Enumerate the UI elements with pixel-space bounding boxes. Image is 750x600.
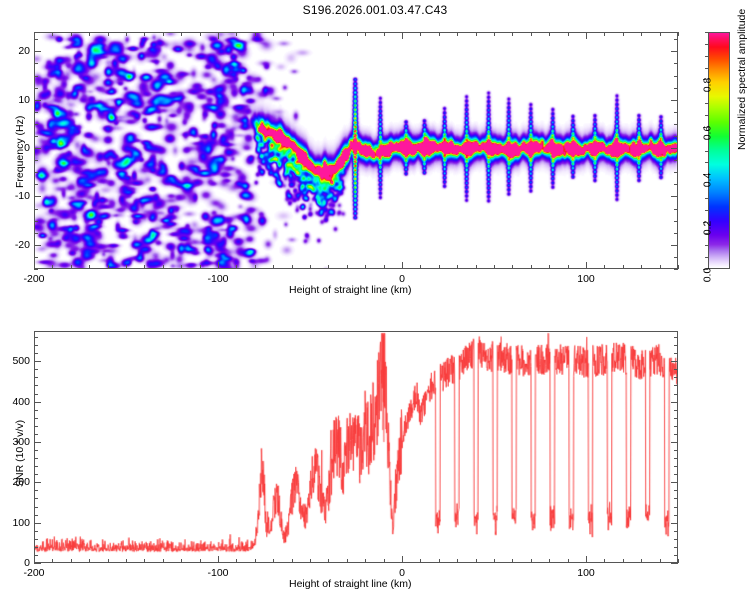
spectrogram-x-tick-top <box>328 32 329 36</box>
spectrogram-y-tick <box>34 269 38 270</box>
spectrogram-y-tick-right <box>674 124 678 125</box>
colorbar-minor-tick <box>705 91 708 92</box>
spectrogram-x-tick <box>255 265 256 269</box>
spectrogram-y-tick <box>34 184 38 185</box>
spectrogram-x-tick-label: -200 <box>23 273 44 285</box>
colorbar-minor-tick <box>705 186 708 187</box>
colorbar-minor-tick <box>705 162 708 163</box>
snr-y-tick-right <box>671 361 678 362</box>
colorbar-minor-tick <box>705 115 708 116</box>
snr-y-tick <box>34 523 41 524</box>
snr-x-tick <box>328 559 329 563</box>
snr-y-tick <box>34 507 38 508</box>
snr-y-tick <box>34 434 38 435</box>
spectrogram-y-tick <box>34 233 38 234</box>
snr-y-tick <box>34 458 38 459</box>
spectrogram-x-tick-top <box>586 32 587 39</box>
snr-x-tick-label: -100 <box>207 567 228 579</box>
snr-y-tick-right <box>674 410 678 411</box>
spectrogram-x-tick-top <box>641 32 642 36</box>
spectrogram-x-tick-top <box>604 32 605 36</box>
snr-y-tick-label: 0 <box>6 557 30 569</box>
spectrogram-x-tick <box>457 265 458 269</box>
spectrogram-x-tick <box>126 265 127 269</box>
spectrogram-x-tick-top <box>531 32 532 36</box>
snr-x-tick <box>52 559 53 563</box>
colorbar-minor-tick <box>705 198 708 199</box>
snr-y-tick-right <box>674 353 678 354</box>
snr-x-tick <box>531 559 532 563</box>
colorbar-minor-tick <box>705 151 708 152</box>
snr-panel <box>34 331 678 563</box>
spectrogram-x-tick <box>439 265 440 269</box>
snr-y-tick <box>34 482 41 483</box>
colorbar-minor-tick <box>705 32 708 33</box>
snr-y-tick <box>34 515 38 516</box>
spectrogram-y-tick-right <box>671 148 678 149</box>
spectrogram-x-tick-top <box>512 32 513 36</box>
spectrogram-x-tick-top <box>549 32 550 36</box>
spectrogram-x-tick <box>531 265 532 269</box>
spectrogram-x-tick-top <box>457 32 458 36</box>
spectrogram-y-tick-label: 10 <box>8 94 30 106</box>
colorbar-minor-tick <box>705 139 708 140</box>
snr-y-tick <box>34 337 38 338</box>
spectrogram-x-tick-top <box>71 32 72 36</box>
spectrogram-y-tick-right <box>671 51 678 52</box>
spectrogram-x-tick-label: 100 <box>577 273 595 285</box>
snr-y-tick <box>34 353 38 354</box>
spectrogram-x-tick-top <box>108 32 109 36</box>
snr-x-tick <box>604 559 605 563</box>
colorbar-minor-tick <box>705 56 708 57</box>
snr-y-tick-right <box>674 490 678 491</box>
spectrogram-x-tick <box>273 265 274 269</box>
snr-x-tick <box>163 559 164 563</box>
spectrogram-x-tick-top <box>678 32 679 36</box>
colorbar-minor-tick <box>705 210 708 211</box>
snr-y-tick <box>34 402 41 403</box>
spectrogram-x-tick <box>218 262 219 269</box>
snr-x-tick <box>144 559 145 563</box>
spectrogram-y-tick-right <box>674 112 678 113</box>
snr-y-tick-label: 400 <box>6 396 30 408</box>
snr-y-tick-label: 500 <box>6 355 30 367</box>
spectrogram-y-tick-right <box>674 88 678 89</box>
snr-y-tick-right <box>674 377 678 378</box>
snr-y-tick <box>34 547 38 548</box>
spectrogram-y-tick <box>34 221 38 222</box>
spectrogram-y-tick <box>34 88 38 89</box>
snr-x-tick <box>108 559 109 563</box>
snr-y-tick <box>34 410 38 411</box>
spectrogram-y-tick-right <box>674 160 678 161</box>
snr-y-tick-right <box>674 385 678 386</box>
spectrogram-y-tick <box>34 112 38 113</box>
spectrogram-y-tick-right <box>674 233 678 234</box>
snr-x-tick <box>420 559 421 563</box>
spectrogram-x-tick <box>236 265 237 269</box>
spectrogram-x-tick-top <box>144 32 145 36</box>
colorbar-minor-tick <box>705 127 708 128</box>
snr-y-tick <box>34 474 38 475</box>
snr-x-tick <box>292 559 293 563</box>
spectrogram-y-tick <box>34 76 38 77</box>
snr-y-tick <box>34 555 38 556</box>
spectrogram-x-tick <box>678 265 679 269</box>
snr-x-tick <box>568 559 569 563</box>
snr-x-tick <box>402 556 403 563</box>
snr-y-tick <box>34 563 41 564</box>
snr-y-tick-right <box>674 337 678 338</box>
snr-x-tick <box>457 559 458 563</box>
spectrogram-y-tick <box>34 51 41 52</box>
snr-x-tick-label: 100 <box>577 567 595 579</box>
snr-y-tick <box>34 369 38 370</box>
snr-y-tick <box>34 377 38 378</box>
snr-y-tick-right <box>674 515 678 516</box>
spectrogram-x-tick-top <box>365 32 366 36</box>
spectrogram-canvas <box>35 33 677 268</box>
snr-y-tick <box>34 498 38 499</box>
spectrogram-y-tick-right <box>674 209 678 210</box>
colorbar-minor-tick <box>705 44 708 45</box>
colorbar-minor-tick <box>705 222 708 223</box>
colorbar-label: Normalized spectral amplitude <box>736 9 748 150</box>
spectrogram-x-tick <box>660 265 661 269</box>
page-title: S196.2026.001.03.47.C43 <box>0 3 750 17</box>
spectrogram-y-tick <box>34 196 41 197</box>
snr-y-tick-right <box>674 466 678 467</box>
spectrogram-x-tick <box>402 262 403 269</box>
spectrogram-x-tick-top <box>494 32 495 36</box>
spectrogram-y-tick-right <box>674 221 678 222</box>
colorbar-minor-tick <box>705 79 708 80</box>
spectrogram-y-tick-label: -20 <box>8 239 30 251</box>
spectrogram-x-tick-top <box>310 32 311 36</box>
snr-x-tick <box>384 559 385 563</box>
spectrogram-x-tick-top <box>236 32 237 36</box>
spectrogram-x-tick <box>494 265 495 269</box>
spectrogram-x-tick <box>108 265 109 269</box>
snr-x-tick <box>678 559 679 563</box>
snr-y-tick <box>34 442 41 443</box>
snr-y-tick-right <box>671 523 678 524</box>
spectrogram-x-tick-top <box>34 32 35 39</box>
snr-y-tick-right <box>674 498 678 499</box>
spectrogram-x-tick <box>347 265 348 269</box>
spectrogram-x-tick <box>512 265 513 269</box>
snr-x-tick <box>34 556 35 563</box>
spectrogram-y-tick-label: -10 <box>8 190 30 202</box>
spectrogram-y-tick <box>34 257 38 258</box>
spectrogram-x-tick-top <box>347 32 348 36</box>
spectrogram-x-tick-top <box>568 32 569 36</box>
spectrogram-x-tick <box>586 262 587 269</box>
colorbar-minor-tick <box>705 245 708 246</box>
snr-canvas <box>35 332 677 562</box>
snr-x-tick <box>365 559 366 563</box>
spectrogram-x-tick-label: -100 <box>207 273 228 285</box>
snr-y-axis-label: SNR (10 * v/v) <box>14 420 26 487</box>
snr-x-tick <box>255 559 256 563</box>
spectrogram-x-tick <box>310 265 311 269</box>
snr-x-tick <box>512 559 513 563</box>
spectrogram-x-tick <box>89 265 90 269</box>
snr-y-tick-right <box>674 394 678 395</box>
spectrogram-x-tick-top <box>292 32 293 36</box>
spectrogram-y-tick-right <box>671 100 678 101</box>
snr-y-tick-right <box>674 531 678 532</box>
colorbar-minor-tick <box>705 269 708 270</box>
spectrogram-x-tick <box>623 265 624 269</box>
spectrogram-x-tick <box>34 262 35 269</box>
snr-x-tick <box>641 559 642 563</box>
spectrogram-x-tick-top <box>200 32 201 36</box>
spectrogram-y-tick <box>34 136 38 137</box>
snr-y-tick <box>34 426 38 427</box>
snr-x-tick <box>236 559 237 563</box>
spectrogram-x-axis-label: Height of straight line (km) <box>289 284 412 296</box>
snr-y-tick <box>34 385 38 386</box>
spectrogram-x-tick <box>328 265 329 269</box>
spectrogram-x-tick <box>476 265 477 269</box>
snr-x-tick <box>623 559 624 563</box>
snr-x-tick <box>273 559 274 563</box>
spectrogram-y-tick-right <box>671 245 678 246</box>
snr-y-tick <box>34 490 38 491</box>
spectrogram-y-tick <box>34 100 41 101</box>
snr-y-tick-right <box>674 458 678 459</box>
snr-y-tick-right <box>674 345 678 346</box>
snr-x-tick <box>439 559 440 563</box>
spectrogram-x-tick <box>604 265 605 269</box>
spectrogram-x-tick <box>163 265 164 269</box>
snr-x-tick <box>181 559 182 563</box>
spectrogram-x-tick-top <box>181 32 182 36</box>
spectrogram-y-tick <box>34 124 38 125</box>
snr-x-tick <box>71 559 72 563</box>
snr-x-tick <box>549 559 550 563</box>
spectrogram-x-tick-top <box>420 32 421 36</box>
spectrogram-y-tick-right <box>674 269 678 270</box>
snr-y-tick <box>34 361 41 362</box>
spectrogram-y-tick-right <box>674 76 678 77</box>
snr-x-tick <box>218 556 219 563</box>
snr-x-tick <box>476 559 477 563</box>
snr-y-tick-label: 100 <box>6 517 30 529</box>
spectrogram-y-axis-label: Frequency (Hz) <box>14 116 26 188</box>
spectrogram-x-tick <box>71 265 72 269</box>
figure-root: S196.2026.001.03.47.C43 -200-10001002010… <box>0 0 750 600</box>
snr-y-tick-right <box>671 482 678 483</box>
snr-y-tick <box>34 539 38 540</box>
spectrogram-y-tick <box>34 148 41 149</box>
snr-x-tick <box>200 559 201 563</box>
snr-y-tick <box>34 531 38 532</box>
snr-x-tick <box>660 559 661 563</box>
spectrogram-x-tick-top <box>402 32 403 39</box>
spectrogram-y-tick-right <box>671 196 678 197</box>
snr-y-tick <box>34 466 38 467</box>
spectrogram-x-tick-top <box>439 32 440 36</box>
spectrogram-x-tick-top <box>89 32 90 36</box>
snr-y-tick-right <box>674 434 678 435</box>
spectrogram-x-tick <box>641 265 642 269</box>
spectrogram-x-tick-top <box>660 32 661 36</box>
snr-y-tick <box>34 345 38 346</box>
snr-y-tick-right <box>674 539 678 540</box>
spectrogram-y-tick-right <box>674 184 678 185</box>
spectrogram-x-tick <box>292 265 293 269</box>
spectrogram-y-tick-right <box>674 39 678 40</box>
snr-y-tick-right <box>674 369 678 370</box>
spectrogram-x-tick-top <box>273 32 274 36</box>
spectrogram-x-tick <box>200 265 201 269</box>
spectrogram-x-tick <box>549 265 550 269</box>
snr-y-tick-right <box>674 474 678 475</box>
spectrogram-y-tick <box>34 39 38 40</box>
spectrogram-y-tick <box>34 245 41 246</box>
snr-y-tick-right <box>674 555 678 556</box>
snr-x-axis-label: Height of straight line (km) <box>289 578 412 590</box>
snr-y-tick-right <box>671 563 678 564</box>
spectrogram-y-tick <box>34 63 38 64</box>
colorbar-minor-tick <box>705 68 708 69</box>
snr-y-tick <box>34 418 38 419</box>
snr-x-tick <box>347 559 348 563</box>
snr-y-tick-right <box>674 426 678 427</box>
colorbar-minor-tick <box>705 103 708 104</box>
colorbar-minor-tick <box>705 233 708 234</box>
snr-x-tick <box>310 559 311 563</box>
snr-x-tick <box>126 559 127 563</box>
spectrogram-x-tick <box>181 265 182 269</box>
spectrogram-y-tick <box>34 209 38 210</box>
spectrogram-x-tick-top <box>384 32 385 36</box>
spectrogram-y-tick-right <box>674 136 678 137</box>
spectrogram-y-tick-label: 20 <box>8 45 30 57</box>
snr-y-tick-right <box>674 450 678 451</box>
colorbar-minor-tick <box>705 174 708 175</box>
snr-y-tick <box>34 394 38 395</box>
snr-y-tick-right <box>674 547 678 548</box>
snr-y-tick <box>34 450 38 451</box>
spectrogram-x-tick-top <box>623 32 624 36</box>
spectrogram-x-tick <box>568 265 569 269</box>
spectrogram-y-tick <box>34 172 38 173</box>
spectrogram-x-tick-top <box>126 32 127 36</box>
snr-y-tick-right <box>671 442 678 443</box>
spectrogram-x-tick <box>144 265 145 269</box>
spectrogram-y-tick-right <box>674 172 678 173</box>
snr-y-tick-right <box>674 507 678 508</box>
spectrogram-x-tick-top <box>255 32 256 36</box>
spectrogram-x-tick-top <box>218 32 219 39</box>
snr-x-tick <box>586 556 587 563</box>
spectrogram-x-tick-top <box>52 32 53 36</box>
spectrogram-x-tick <box>384 265 385 269</box>
spectrogram-x-tick <box>420 265 421 269</box>
snr-y-tick-right <box>674 418 678 419</box>
spectrogram-x-tick-top <box>163 32 164 36</box>
spectrogram-x-tick <box>52 265 53 269</box>
snr-x-tick <box>494 559 495 563</box>
spectrogram-y-tick-right <box>674 63 678 64</box>
spectrogram-x-tick <box>365 265 366 269</box>
snr-y-tick-right <box>671 402 678 403</box>
snr-x-tick <box>89 559 90 563</box>
spectrogram-x-tick-top <box>476 32 477 36</box>
spectrogram-y-tick-right <box>674 257 678 258</box>
spectrogram-panel <box>34 32 678 269</box>
spectrogram-y-tick <box>34 160 38 161</box>
colorbar-minor-tick <box>705 257 708 258</box>
